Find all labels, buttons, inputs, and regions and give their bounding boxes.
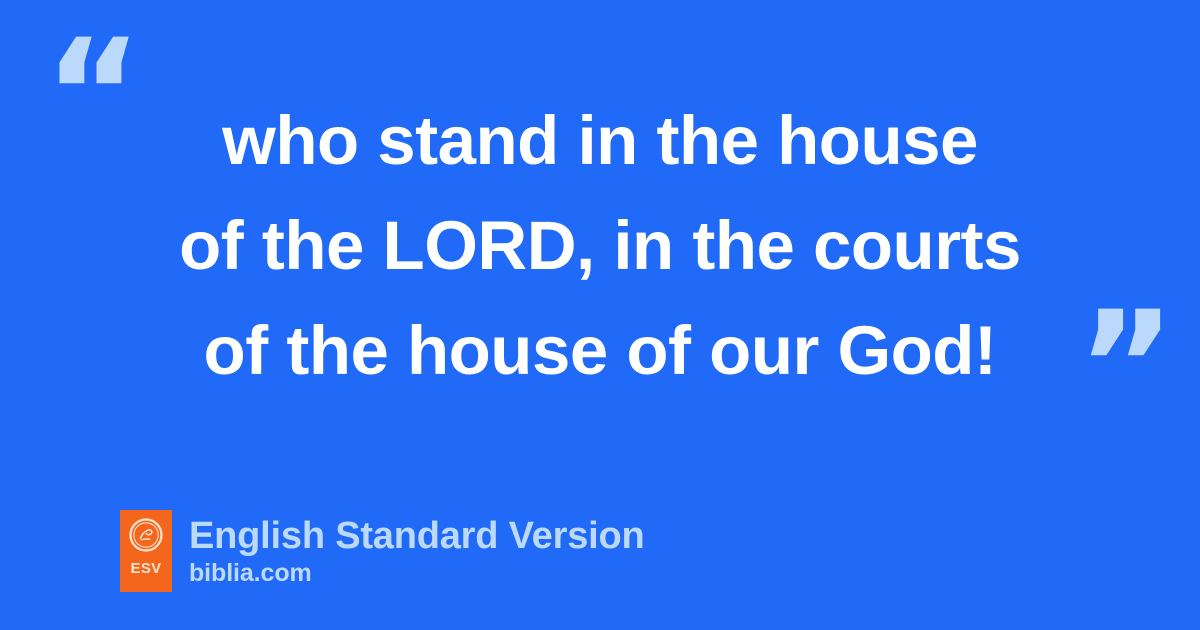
esv-logo-label: ESV	[131, 561, 162, 576]
bible-version-name: English Standard Version	[189, 514, 645, 558]
esv-seal-icon	[129, 518, 163, 552]
quote-line: who stand in the house	[60, 88, 1140, 193]
site-name: biblia.com	[189, 558, 645, 588]
attribution-text: English Standard Version biblia.com	[189, 514, 645, 588]
closing-quote-icon: ”	[1077, 292, 1176, 442]
esv-logo: ESV	[120, 510, 172, 592]
quote-text-block: who stand in the house of the LORD, in t…	[0, 88, 1200, 403]
quote-line: of the house of our God!	[60, 298, 1140, 403]
quote-line: of the LORD, in the courts	[60, 193, 1140, 298]
bible-verse-card: “ who stand in the house of the LORD, in…	[0, 0, 1200, 630]
attribution: ESV English Standard Version biblia.com	[120, 510, 645, 592]
